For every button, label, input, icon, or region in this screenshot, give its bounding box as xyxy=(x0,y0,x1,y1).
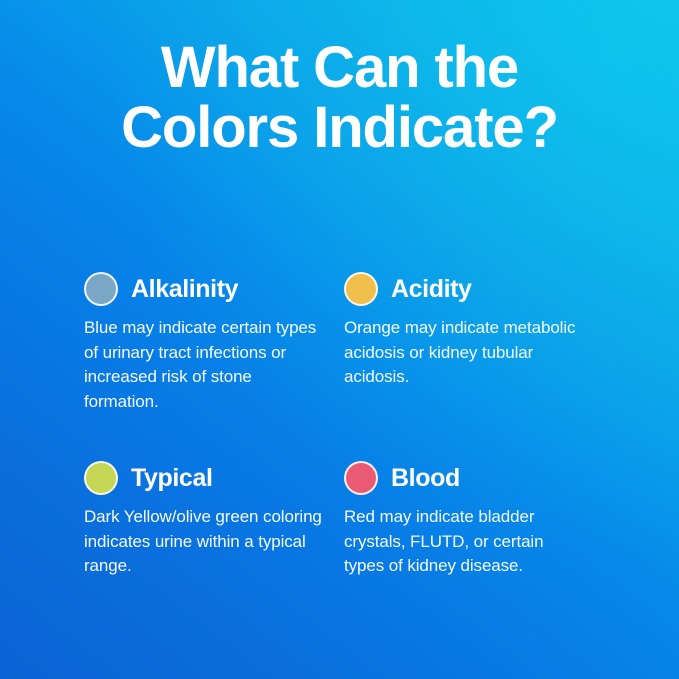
infographic-poster: What Can the Colors Indicate? Alkalinity… xyxy=(0,0,679,679)
legend-item-typical-description: Dark Yellow/olive green coloring indicat… xyxy=(84,505,322,579)
acidity-color-swatch xyxy=(344,272,378,306)
legend-item-alkalinity-title: Alkalinity xyxy=(131,275,238,303)
legend-item-typical-title: Typical xyxy=(131,464,213,492)
legend-item-alkalinity: Alkalinity Blue may indicate certain typ… xyxy=(84,271,344,414)
legend-item-alkalinity-description: Blue may indicate certain types of urina… xyxy=(84,316,322,414)
legend-item-acidity-title: Acidity xyxy=(391,275,472,303)
legend-item-typical-header: Typical xyxy=(84,460,326,496)
legend-item-blood-header: Blood xyxy=(344,460,586,496)
legend-item-acidity: Acidity Orange may indicate metabolic ac… xyxy=(344,271,604,414)
typical-color-swatch xyxy=(84,461,118,495)
page-title-line-2: Colors Indicate? xyxy=(0,98,679,158)
page-title: What Can the Colors Indicate? xyxy=(0,38,679,158)
legend-item-typical: Typical Dark Yellow/olive green coloring… xyxy=(84,460,344,579)
alkalinity-color-swatch xyxy=(84,272,118,306)
legend-row-top: Alkalinity Blue may indicate certain typ… xyxy=(84,271,604,414)
legend-item-blood: Blood Red may indicate bladder crystals,… xyxy=(344,460,604,579)
legend-item-blood-title: Blood xyxy=(391,464,460,492)
legend-item-acidity-header: Acidity xyxy=(344,271,586,307)
legend-item-blood-description: Red may indicate bladder crystals, FLUTD… xyxy=(344,505,586,579)
legend-item-alkalinity-header: Alkalinity xyxy=(84,271,326,307)
page-title-line-1: What Can the xyxy=(0,38,679,98)
color-legend-grid: Alkalinity Blue may indicate certain typ… xyxy=(84,271,604,579)
blood-color-swatch xyxy=(344,461,378,495)
poster-content: What Can the Colors Indicate? Alkalinity… xyxy=(0,0,679,679)
legend-item-acidity-description: Orange may indicate metabolic acidosis o… xyxy=(344,316,586,390)
legend-row-bottom: Typical Dark Yellow/olive green coloring… xyxy=(84,460,604,579)
